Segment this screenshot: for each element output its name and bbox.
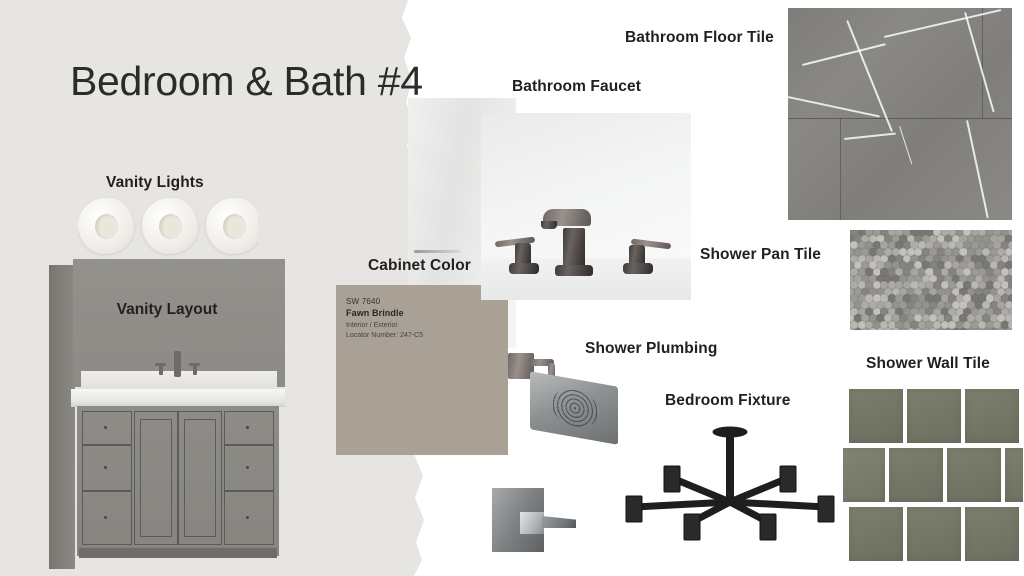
sconce-icon [78,198,134,254]
drawer-knob-icon [246,516,249,519]
label-cabinet-color: Cabinet Color [368,257,471,275]
label-shower-pan-tile: Shower Pan Tile [700,246,821,264]
bedroom-fixture-image [620,422,840,562]
paint-use: Interior / Exterior [346,322,398,329]
chandelier-shade [818,496,834,522]
wall-tile-square [947,448,1001,502]
board-title: Bedroom & Bath #4 [70,58,423,105]
vanity-toe-kick [79,548,277,558]
sconce-icon [206,198,258,254]
valve-handle-block [520,512,544,534]
vanity-faucet-stem-left [159,365,163,375]
bathroom-floor-tile-image [788,8,1012,220]
vanity-drawer [82,491,132,545]
wall-tile-square [965,507,1019,561]
marble-vein [802,43,886,66]
faucet-spout-base [555,265,593,276]
vanity-door-right-inset [184,419,216,537]
tile-grout-line [788,118,1012,119]
marble-vein [788,96,880,117]
penny-tile [1005,328,1012,330]
vanity-drawer [224,445,274,491]
shower-head-face [530,371,618,445]
vanity-faucet-stem-right [193,365,197,375]
chandelier-shade [626,496,642,522]
label-bathroom-faucet: Bathroom Faucet [512,78,641,96]
vanity-layout-image: Vanity Layout [49,259,285,569]
marble-vein [964,12,995,113]
faucet-handle-right-base [623,263,653,274]
faucet-spout-column [563,228,585,270]
paint-name: Fawn Brindle [346,308,404,318]
paint-chip-swatch: SW 7640 Fawn Brindle Interior / Exterior… [336,285,508,455]
shower-valve-trim-image [486,480,581,565]
label-shower-wall-tile: Shower Wall Tile [866,355,990,373]
marble-vein [966,120,989,218]
chandelier-shade [684,514,700,540]
design-mood-board: Bedroom & Bath #4 Vanity Lights Vanity L… [0,0,1024,576]
vanity-drawer [224,491,274,545]
vanity-countertop [71,389,285,407]
faucet-handle-left-base [509,263,539,274]
wall-tile-square [849,507,903,561]
faucet-spout-tip [541,221,557,229]
marble-vein [899,126,912,164]
valve-handle-lever [542,516,576,528]
marble-vein [884,9,1001,38]
drawer-knob-icon [104,466,107,469]
shower-pan-tile-image [850,230,1012,330]
wall-tile-square [849,389,903,443]
vanity-door-left-inset [140,419,172,537]
paint-code: SW 7640 [346,297,380,306]
chandelier-shade [780,466,796,492]
wall-tile-square [907,389,961,443]
chandelier-shade [664,466,680,492]
label-vanity-lights: Vanity Lights [106,174,204,192]
label-bedroom-fixture: Bedroom Fixture [665,392,791,410]
wall-tile-square [889,448,943,502]
drawer-knob-icon [246,466,249,469]
vanity-faucet-spout [174,351,181,377]
vanity-lights-image [78,196,258,258]
marble-vein [844,133,896,140]
chandelier-shade [760,514,776,540]
shower-wall-tile-image [843,389,1023,565]
vanity-drawer [82,411,132,445]
shower-head-spray-pattern [552,385,598,431]
wall-tile-square [843,448,885,502]
wall-tile-square [1005,448,1023,502]
label-vanity-layout: Vanity Layout [49,301,285,319]
wall-tile-square [907,507,961,561]
drawer-knob-icon [104,426,107,429]
drawer-knob-icon [246,426,249,429]
shower-head-image [508,345,628,445]
door-handle-icon [414,250,460,253]
tile-grout-line [982,8,983,118]
vanity-drawer [82,445,132,491]
vanity-drawer [224,411,274,445]
tile-grout-line [840,118,841,220]
paint-locator: Locator Number: 247-C5 [346,332,423,339]
label-bathroom-floor-tile: Bathroom Floor Tile [625,29,774,47]
sconce-icon [142,198,198,254]
drawer-knob-icon [104,516,107,519]
wall-tile-square [965,389,1019,443]
bathroom-faucet-image [481,113,691,300]
